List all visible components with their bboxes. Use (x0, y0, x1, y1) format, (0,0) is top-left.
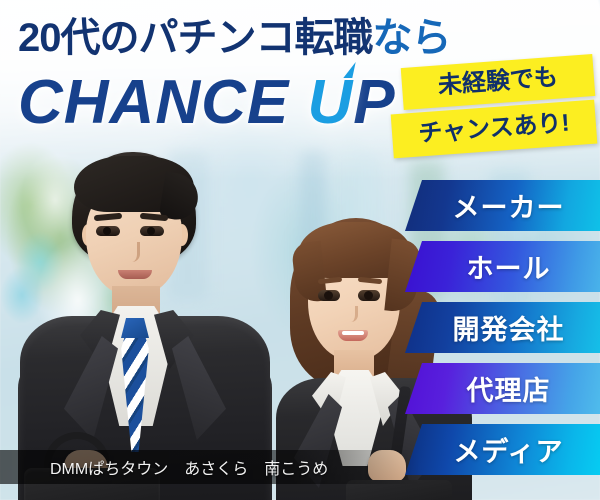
female-mouth (338, 330, 368, 341)
credit-strip: DMMぱちタウン あさくら 南こうめ (0, 450, 420, 484)
headline-text: 20代のパチンコ転職なら (18, 18, 451, 58)
category-button-media[interactable]: メディア (405, 424, 600, 475)
category-button-maker[interactable]: メーカー (405, 180, 600, 231)
category-button-hall[interactable]: ホール (405, 241, 600, 292)
male-eye-left (96, 226, 120, 236)
category-button-list: メーカー ホール 開発会社 代理店 メディア (405, 180, 600, 485)
advertisement-banner[interactable]: 20代のパチンコ転職なら CHANCE UP 未経験でも チャンスあり! メーカ… (0, 0, 600, 500)
female-eye-right (358, 290, 380, 301)
logotype-u: U (307, 68, 353, 137)
category-button-developer[interactable]: 開発会社 (405, 302, 600, 353)
male-fringe (74, 156, 194, 212)
female-fringe (298, 222, 412, 278)
category-label: 代理店 (467, 369, 551, 408)
person-male-model (20, 150, 270, 500)
promo-badge: 未経験でも チャンスあり! (392, 55, 598, 159)
category-button-agency[interactable]: 代理店 (405, 363, 600, 414)
credit-text: DMMぱちタウン あさくら 南こうめ (0, 455, 328, 479)
headline-main: 20代のパチンコ転職 (18, 16, 373, 60)
logotype-chance-up: CHANCE UP (18, 72, 396, 134)
female-eye-left (318, 290, 340, 301)
male-mouth (118, 270, 152, 279)
category-label: ホール (467, 247, 551, 286)
logotype-p: P (353, 68, 395, 137)
category-label: メディア (453, 430, 563, 469)
headline-accent: なら (373, 16, 451, 60)
male-eye-right (140, 226, 164, 236)
category-label: メーカー (453, 186, 565, 225)
logotype-chance: CHANCE (18, 68, 307, 137)
male-nose (128, 242, 140, 262)
category-label: 開発会社 (453, 308, 565, 347)
